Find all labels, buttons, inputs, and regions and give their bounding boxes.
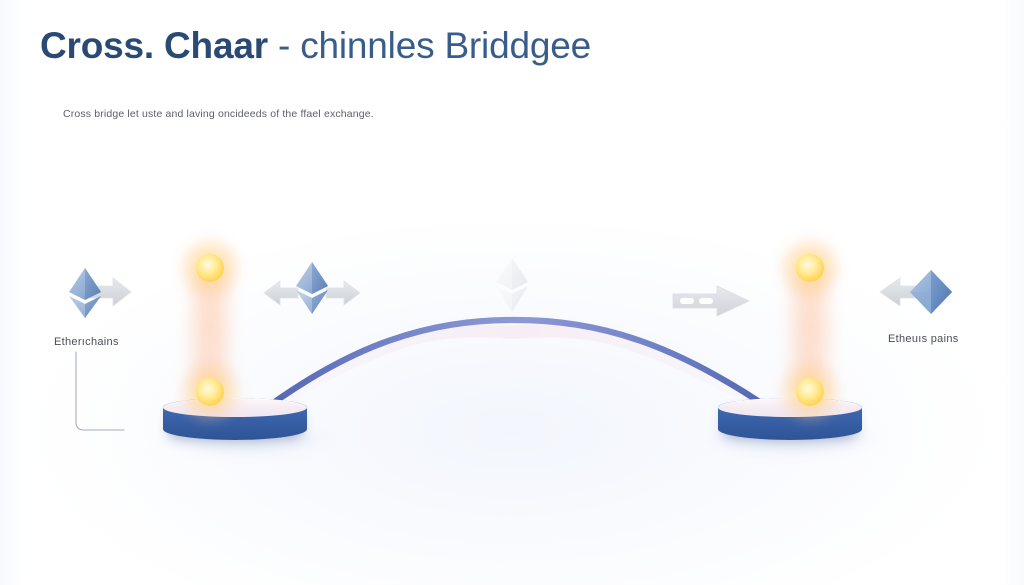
node-label-right: Etheuıs pains xyxy=(888,333,959,345)
bridge-scene: Etherıchains xyxy=(0,150,1024,585)
glow-left xyxy=(178,236,242,424)
node-label-left: Etherıchains xyxy=(54,336,119,348)
ethereum-ghost-icon xyxy=(489,254,535,320)
page-title: Cross. Chaar - chinnles Briddgee xyxy=(40,20,591,72)
glow-left-orb-top xyxy=(178,236,242,300)
glow-right xyxy=(778,236,842,424)
callout-left xyxy=(68,350,128,436)
glow-left-orb-bottom-core xyxy=(196,378,224,406)
page-title-strong: Cross. Chaar xyxy=(40,25,268,66)
page-subtitle: Cross bridge let uste and laving oncidee… xyxy=(63,107,374,122)
glow-right-orb-top xyxy=(778,236,842,300)
ethereum-bidirectional-icon[interactable] xyxy=(262,258,362,324)
ethereum-receive-icon[interactable] xyxy=(870,262,962,322)
transfer-arrow-icon[interactable] xyxy=(671,284,751,318)
glow-right-orb-bottom-core xyxy=(796,378,824,406)
page-title-light: - chinnles Briddgee xyxy=(278,25,591,66)
glow-right-orb-top-core xyxy=(796,254,824,282)
glow-left-orb-top-core xyxy=(196,254,224,282)
bridge-arc xyxy=(0,150,1024,585)
illustration-canvas: Cross. Chaar - chinnles Briddgee Cross b… xyxy=(0,0,1024,585)
ethereum-send-icon[interactable] xyxy=(55,262,147,322)
glow-left-orb-bottom xyxy=(178,360,242,424)
glow-right-orb-bottom xyxy=(778,360,842,424)
